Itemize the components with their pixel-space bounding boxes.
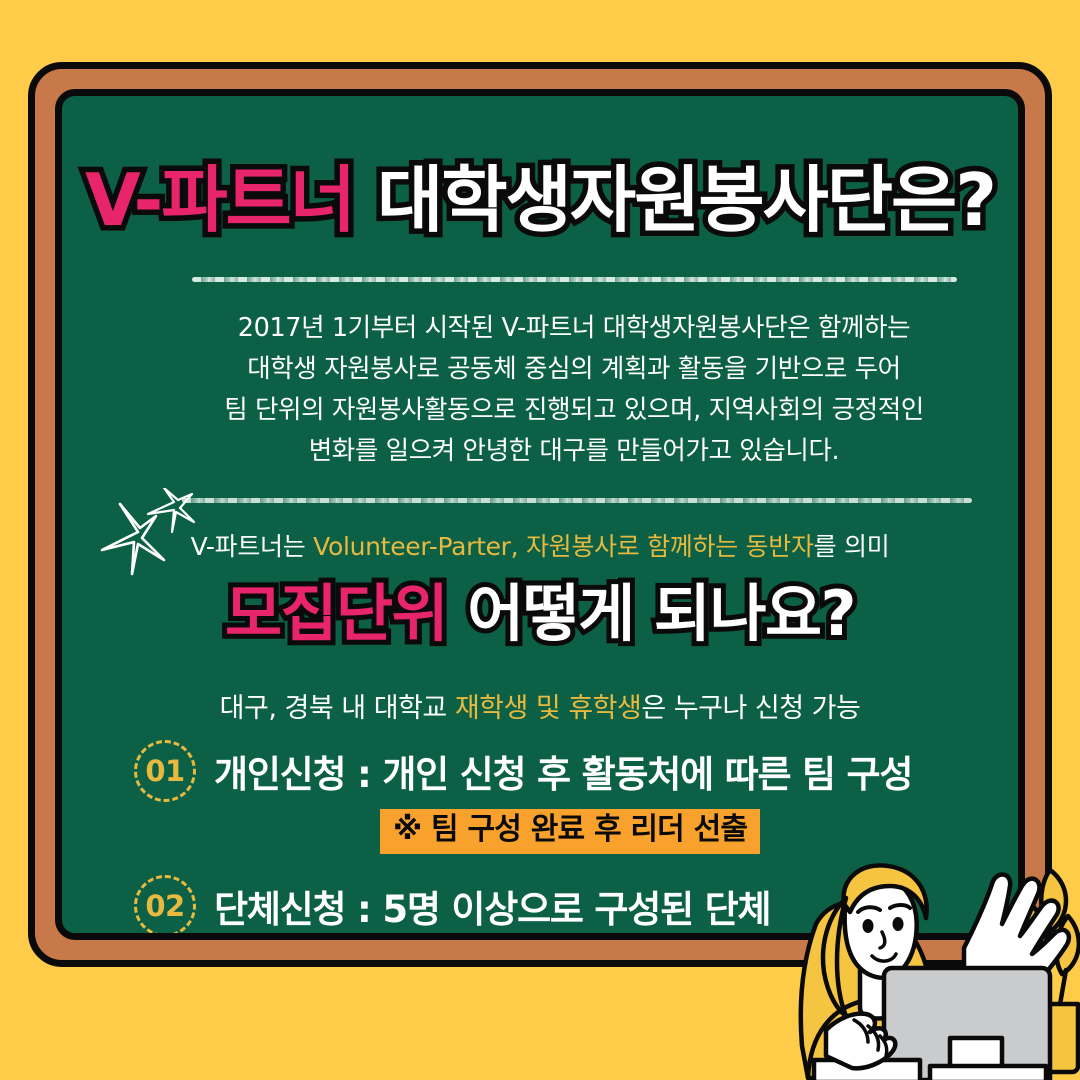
- note-highlight: ※ 팀 구성 완료 후 리더 선출: [380, 809, 760, 854]
- list-item: 02 단체신청 : 5명 이상으로 구성된 단체: [134, 875, 770, 937]
- chalkboard-surface: V-파트너 대학생자원봉사단은? 2017년 1기부터 시작된 V-파트너 대학…: [55, 89, 1025, 940]
- list-item: 01 개인신청 : 개인 신청 후 활동처에 따른 팀 구성: [134, 740, 912, 802]
- definition-suffix: 를 의미: [814, 532, 890, 561]
- eligibility-line: 대구, 경북 내 대학교 재학생 및 휴학생은 누구나 신청 가능: [62, 686, 1018, 725]
- item-label: 단체신청 : 5명 이상으로 구성된 단체: [214, 879, 770, 933]
- item-number-badge: 01: [134, 740, 196, 802]
- intro-line-2: 대학생 자원봉사로 공동체 중심의 계획과 활동을 기반으로 두어: [148, 349, 1000, 390]
- eligibility-suffix: 은 누구나 신청 가능: [641, 693, 860, 724]
- item-label: 개인신청 : 개인 신청 후 활동처에 따른 팀 구성: [214, 744, 912, 798]
- chalk-divider-middle: [182, 498, 972, 503]
- eligibility-prefix: 대구, 경북 내 대학교: [220, 693, 455, 724]
- section-title-rest: 어떻게 되나요?: [447, 577, 855, 650]
- section-title: 모집단위 어떻게 되나요?: [62, 583, 1018, 645]
- section-title-highlight: 모집단위: [225, 577, 447, 650]
- page-title-highlight: V-파트너: [85, 158, 354, 242]
- page-title: V-파트너 대학생자원봉사단은?: [62, 164, 1018, 236]
- intro-paragraph: 2017년 1기부터 시작된 V-파트너 대학생자원봉사단은 함께하는 대학생 …: [148, 308, 1000, 472]
- chalk-divider-top: [192, 277, 957, 282]
- page-title-rest: 대학생자원봉사단은?: [354, 158, 995, 242]
- intro-line-1: 2017년 1기부터 시작된 V-파트너 대학생자원봉사단은 함께하는: [148, 308, 1000, 349]
- chalkboard-frame: V-파트너 대학생자원봉사단은? 2017년 1기부터 시작된 V-파트너 대학…: [28, 62, 1052, 967]
- intro-line-3: 팀 단위의 자원봉사활동으로 진행되고 있으며, 지역사회의 긍정적인: [148, 390, 1000, 431]
- definition-line: V-파트너는 Volunteer-Parter, 자원봉사로 함께하는 동반자를…: [62, 527, 1018, 563]
- definition-prefix: V-파트너는: [191, 532, 314, 561]
- definition-highlight: Volunteer-Parter, 자원봉사로 함께하는 동반자: [313, 532, 814, 561]
- eligibility-highlight: 재학생 및 휴학생: [455, 693, 642, 724]
- intro-line-4: 변화를 일으켜 안녕한 대구를 만들어가고 있습니다.: [148, 431, 1000, 472]
- item-number-badge: 02: [134, 875, 196, 937]
